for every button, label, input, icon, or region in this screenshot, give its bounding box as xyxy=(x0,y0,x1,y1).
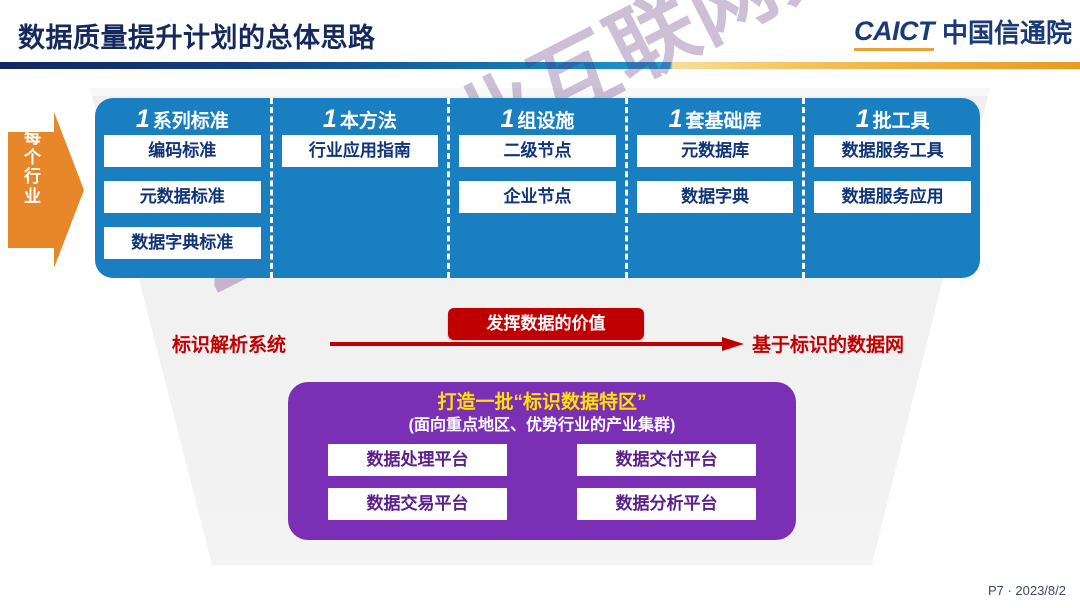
standard-chip[interactable]: 数据服务应用 xyxy=(814,181,971,213)
column-header: 1批工具 xyxy=(814,105,971,135)
identification-data-zone-panel: 打造一批“标识数据特区” (面向重点地区、优势行业的产业集群) 数据处理平台 数… xyxy=(288,382,796,540)
column-unit: 本方法 xyxy=(340,111,397,132)
slide-footer-pagenum: P7 · 2023/8/2 xyxy=(988,583,1066,598)
platform-chip[interactable]: 数据处理平台 xyxy=(328,444,507,476)
zone-subtitle: (面向重点地区、优势行业的产业集群) xyxy=(306,415,778,437)
slide-header: 数据质量提升计划的总体思路 CAICT 中国信通院 xyxy=(0,0,1080,68)
brand-acronym-text: CAICT xyxy=(854,18,934,51)
standards-column: 1本方法 行业应用指南 xyxy=(270,98,448,278)
column-number: 1 xyxy=(669,105,683,133)
standards-column: 1系列标准 编码标准 元数据标准 数据字典标准 xyxy=(95,98,270,278)
column-header: 1系列标准 xyxy=(104,105,261,135)
column-number: 1 xyxy=(323,105,337,133)
standard-chip[interactable]: 元数据库 xyxy=(637,135,794,167)
header-divider-rule xyxy=(0,62,1080,69)
column-header: 1本方法 xyxy=(282,105,439,135)
platform-chip[interactable]: 数据分析平台 xyxy=(577,488,756,520)
column-unit: 批工具 xyxy=(873,111,930,132)
platform-chip[interactable]: 数据交付平台 xyxy=(577,444,756,476)
page-title: 数据质量提升计划的总体思路 xyxy=(18,16,376,55)
column-header: 1组设施 xyxy=(459,105,616,135)
every-industry-label: 每个行业 xyxy=(20,128,46,207)
platform-chip[interactable]: 数据交易平台 xyxy=(328,488,507,520)
every-industry-arrow-icon xyxy=(6,110,86,270)
column-unit: 系列标准 xyxy=(153,111,229,132)
standards-panel: 1系列标准 编码标准 元数据标准 数据字典标准 1本方法 行业应用指南 1组设施… xyxy=(95,98,980,278)
standard-chip[interactable]: 元数据标准 xyxy=(104,181,261,213)
value-badge: 发挥数据的价值 xyxy=(448,308,644,340)
column-number: 1 xyxy=(136,105,150,133)
column-unit: 套基础库 xyxy=(686,111,762,132)
standard-chip[interactable]: 编码标准 xyxy=(104,135,261,167)
column-number: 1 xyxy=(856,105,870,133)
column-number: 1 xyxy=(501,105,515,133)
flow-target-label: 基于标识的数据网 xyxy=(752,330,904,357)
standard-chip[interactable]: 数据字典标准 xyxy=(104,227,261,259)
zone-title: 打造一批“标识数据特区” xyxy=(306,390,778,415)
caict-logo: CAICT 中国信通院 xyxy=(854,18,1072,51)
flow-source-label: 标识解析系统 xyxy=(172,330,286,357)
zone-platform-grid: 数据处理平台 数据交付平台 数据交易平台 数据分析平台 xyxy=(306,444,778,520)
column-header: 1套基础库 xyxy=(637,105,794,135)
standards-column: 1套基础库 元数据库 数据字典 xyxy=(625,98,803,278)
standard-chip[interactable]: 企业节点 xyxy=(459,181,616,213)
standard-chip[interactable]: 数据字典 xyxy=(637,181,794,213)
standard-chip[interactable]: 数据服务工具 xyxy=(814,135,971,167)
standards-column: 1批工具 数据服务工具 数据服务应用 xyxy=(802,98,980,278)
standard-chip[interactable]: 行业应用指南 xyxy=(282,135,439,167)
standards-column: 1组设施 二级节点 企业节点 xyxy=(447,98,625,278)
standard-chip[interactable]: 二级节点 xyxy=(459,135,616,167)
column-unit: 组设施 xyxy=(517,111,574,132)
brand-name-chinese: 中国信通院 xyxy=(942,20,1072,51)
